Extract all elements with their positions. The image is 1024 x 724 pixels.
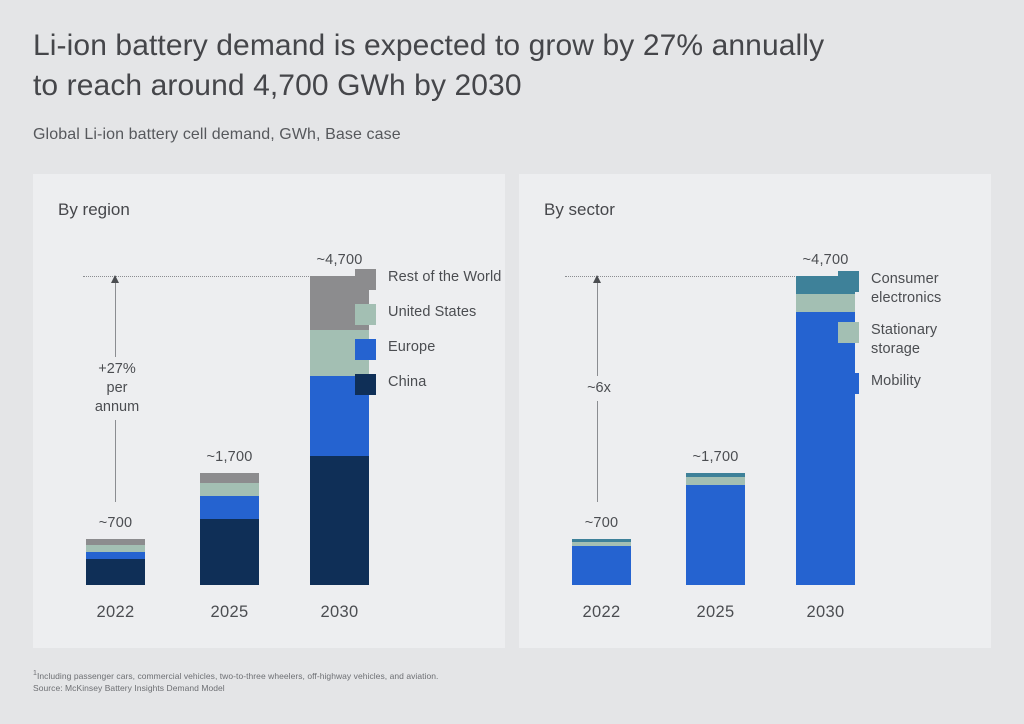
plot-area-by-region: +27% per annum~7002022~1,7002025~4,70020…: [33, 174, 505, 648]
legend-item-united-states[interactable]: United States: [355, 303, 501, 325]
x-axis-label-2025: 2025: [668, 603, 763, 622]
bar-total-2030: ~4,700: [778, 252, 873, 268]
bar-2022[interactable]: [86, 539, 145, 585]
footnote-1: 1Including passenger cars, commercial ve…: [33, 668, 438, 682]
legend-by-region: Rest of the WorldUnited StatesEuropeChin…: [355, 268, 501, 408]
growth-annotation-label: +27% per annum: [78, 357, 156, 420]
bar-2025[interactable]: [686, 473, 745, 585]
bar-segment-rest-of-the-world[interactable]: [200, 473, 259, 483]
bar-total-2022: ~700: [68, 515, 163, 531]
legend-swatch-mobility: [838, 373, 859, 394]
legend-label-consumer-electronics: Consumer electronics: [871, 270, 941, 308]
bar-segment-europe[interactable]: [86, 552, 145, 560]
legend-label-rest-of-the-world: Rest of the World: [388, 268, 501, 287]
x-axis-label-2022: 2022: [554, 603, 649, 622]
legend-item-china[interactable]: China: [355, 373, 501, 395]
legend-label-stationary-storage: Stationary storage: [871, 321, 937, 359]
bar-total-2025: ~1,700: [668, 449, 763, 465]
bar-total-2025: ~1,700: [182, 449, 277, 465]
bar-total-2030: ~4,700: [292, 252, 387, 268]
legend-label-mobility: Mobility: [871, 372, 921, 391]
legend-swatch-europe: [355, 339, 376, 360]
page-subtitle: Global Li-ion battery cell demand, GWh, …: [33, 126, 933, 144]
legend-label-united-states: United States: [388, 303, 476, 322]
chart-header: Li-ion battery demand is expected to gro…: [33, 26, 933, 144]
panel-by-sector: By sector ~6x~7002022~1,7002025~4,700203…: [519, 174, 991, 648]
x-axis-label-2022: 2022: [68, 603, 163, 622]
legend-swatch-china: [355, 374, 376, 395]
legend-label-china: China: [388, 373, 426, 392]
bar-segment-mobility[interactable]: [572, 546, 631, 585]
bar-segment-stationary-storage[interactable]: [686, 477, 745, 485]
bar-segment-china[interactable]: [310, 456, 369, 585]
source-line: Source: McKinsey Battery Insights Demand…: [33, 682, 438, 694]
legend-by-sector: Consumer electronicsStationary storageMo…: [838, 270, 941, 407]
bar-segment-china[interactable]: [86, 559, 145, 585]
panel-by-region: By region +27% per annum~7002022~1,70020…: [33, 174, 505, 648]
legend-item-europe[interactable]: Europe: [355, 338, 501, 360]
legend-item-rest-of-the-world[interactable]: Rest of the World: [355, 268, 501, 290]
legend-swatch-consumer-electronics: [838, 271, 859, 292]
legend-swatch-united-states: [355, 304, 376, 325]
x-axis-label-2025: 2025: [182, 603, 277, 622]
bar-2022[interactable]: [572, 539, 631, 585]
x-axis-label-2030: 2030: [778, 603, 873, 622]
growth-annotation-label: ~6x: [560, 376, 638, 401]
legend-item-mobility[interactable]: Mobility: [838, 372, 941, 394]
footnotes: 1Including passenger cars, commercial ve…: [33, 668, 438, 694]
legend-item-consumer-electronics[interactable]: Consumer electronics: [838, 270, 941, 308]
bar-segment-united-states[interactable]: [200, 483, 259, 495]
bar-2025[interactable]: [200, 473, 259, 585]
legend-swatch-stationary-storage: [838, 322, 859, 343]
bar-total-2022: ~700: [554, 515, 649, 531]
footnote-1-text: Including passenger cars, commercial veh…: [37, 671, 438, 681]
bar-segment-china[interactable]: [200, 519, 259, 585]
page-title: Li-ion battery demand is expected to gro…: [33, 26, 933, 106]
legend-swatch-rest-of-the-world: [355, 269, 376, 290]
bar-segment-mobility[interactable]: [686, 485, 745, 585]
bar-segment-europe[interactable]: [200, 496, 259, 519]
legend-label-europe: Europe: [388, 338, 435, 357]
x-axis-label-2030: 2030: [292, 603, 387, 622]
legend-item-stationary-storage[interactable]: Stationary storage: [838, 321, 941, 359]
plot-area-by-sector: ~6x~7002022~1,7002025~4,7002030: [519, 174, 991, 648]
